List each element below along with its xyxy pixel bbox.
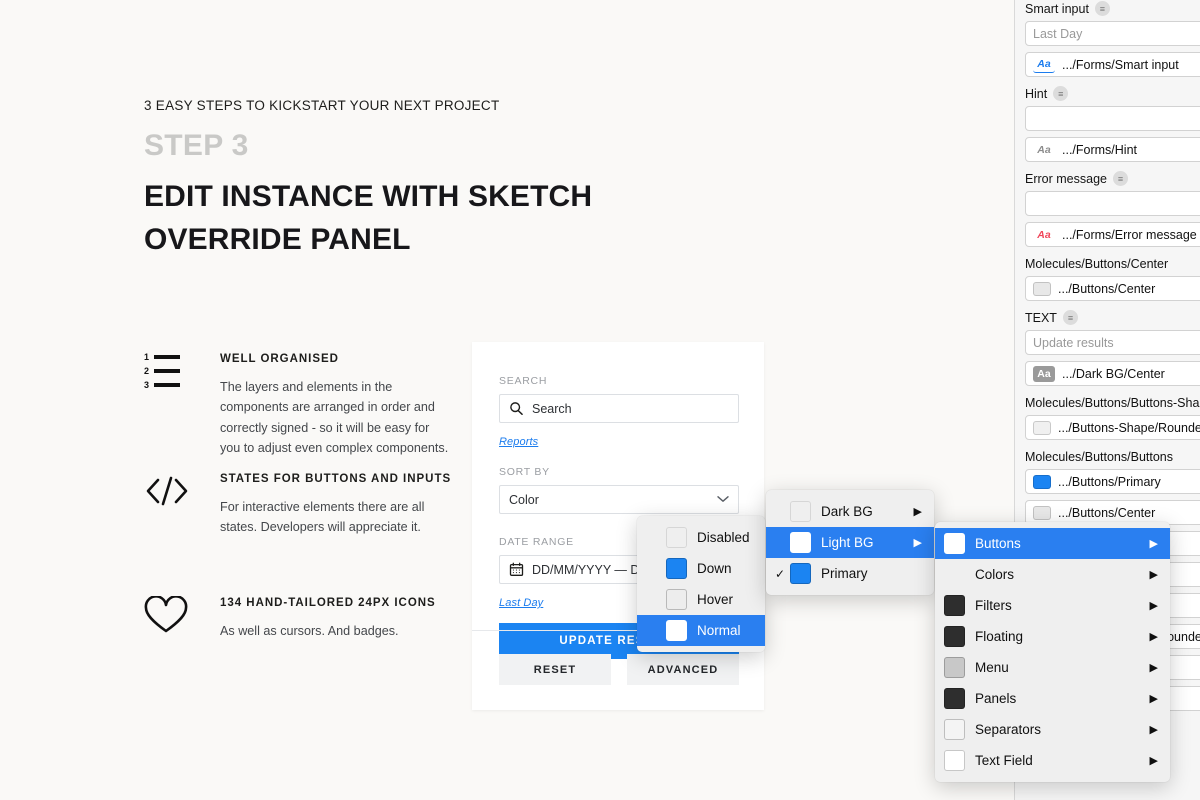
override-symbol-title: Molecules/Buttons/Buttons-Shape <box>1025 396 1200 410</box>
page-title: EDIT INSTANCE WITH SKETCH OVERRIDE PANEL <box>144 176 664 261</box>
override-symbol-row[interactable]: Aa.../Forms/Error message <box>1025 222 1200 247</box>
feature-body: For interactive elements there are all s… <box>220 497 452 538</box>
menu-item-buttons[interactable]: Buttons▶ <box>935 528 1170 559</box>
feature-item: STATES FOR BUTTONS AND INPUTS For intera… <box>144 472 464 538</box>
menu-item-colors[interactable]: Colors▶ <box>935 559 1170 590</box>
color-swatch <box>790 501 811 522</box>
submenu-arrow-icon: ▶ <box>1150 537 1158 550</box>
layers-icon[interactable]: ≡ <box>1113 171 1128 186</box>
menu-item-label: Colors <box>975 567 1130 582</box>
menu-item-label: Buttons <box>975 536 1130 551</box>
override-text-input[interactable] <box>1025 191 1200 216</box>
symbol-thumbnail <box>1033 421 1051 435</box>
checkmark-icon: ✓ <box>775 567 790 581</box>
menu-item-primary[interactable]: ✓Primary <box>766 558 934 589</box>
submenu-arrow-icon: ▶ <box>1150 599 1158 612</box>
sort-by-select[interactable]: Color <box>499 485 739 514</box>
menu-item-hover[interactable]: Hover <box>637 584 765 615</box>
color-swatch <box>944 626 965 647</box>
sort-by-label: SORT BY <box>499 466 739 478</box>
override-symbol-value: .../Buttons/Primary <box>1058 475 1161 489</box>
override-group-label: Hint≡ <box>1025 86 1200 101</box>
text-style-icon: Aa <box>1033 227 1055 243</box>
menu-item-label: Normal <box>697 623 753 638</box>
menu-item-label: Filters <box>975 598 1130 613</box>
menu-item-light-bg[interactable]: Light BG▶ <box>766 527 934 558</box>
screenshot-root: 3 EASY STEPS TO KICKSTART YOUR NEXT PROJ… <box>0 0 1200 800</box>
color-swatch <box>666 527 687 548</box>
chevron-down-icon <box>717 494 729 506</box>
text-style-icon: Aa <box>1033 142 1055 158</box>
submenu-arrow-icon: ▶ <box>1150 630 1158 643</box>
override-group-label-text: Error message <box>1025 172 1107 186</box>
components-menu: Buttons▶Colors▶Filters▶Floating▶Menu▶Pan… <box>935 522 1170 782</box>
override-group-label-text: Hint <box>1025 87 1047 101</box>
feature-item: 134 HAND-TAILORED 24PX ICONS As well as … <box>144 596 464 641</box>
search-label: SEARCH <box>499 375 739 387</box>
code-brackets-icon <box>144 472 196 518</box>
override-symbol-row[interactable]: .../Buttons-Shape/Rounded <box>1025 415 1200 440</box>
menu-item-panels[interactable]: Panels▶ <box>935 683 1170 714</box>
override-symbol-row[interactable]: .../Buttons/Primary <box>1025 469 1200 494</box>
color-swatch <box>944 750 965 771</box>
headline-line-2: OVERRIDE PANEL <box>144 219 664 262</box>
override-group-label: Error message≡ <box>1025 171 1200 186</box>
symbol-thumbnail <box>1033 475 1051 489</box>
color-swatch <box>944 657 965 678</box>
menu-item-menu[interactable]: Menu▶ <box>935 652 1170 683</box>
color-swatch <box>790 563 811 584</box>
override-text-input[interactable]: Last Day <box>1025 21 1200 46</box>
text-style-icon: Aa <box>1033 57 1055 73</box>
override-group-label-text: TEXT <box>1025 311 1057 325</box>
numbered-list-icon: 1 2 3 <box>144 352 196 398</box>
eyebrow-text: 3 EASY STEPS TO KICKSTART YOUR NEXT PROJ… <box>144 98 499 113</box>
heart-icon <box>144 596 196 642</box>
override-text-input-value: Last Day <box>1033 27 1082 41</box>
menu-item-label: Panels <box>975 691 1130 706</box>
calendar-icon <box>509 562 524 577</box>
menu-item-label: Primary <box>821 566 922 581</box>
layers-icon[interactable]: ≡ <box>1053 86 1068 101</box>
feature-title: 134 HAND-TAILORED 24PX ICONS <box>220 596 464 609</box>
color-swatch <box>944 688 965 709</box>
states-menu: DisabledDownHoverNormal <box>637 516 765 652</box>
symbol-thumbnail <box>1033 506 1051 520</box>
text-style-icon: Aa <box>1033 366 1055 382</box>
submenu-arrow-icon: ▶ <box>1150 754 1158 767</box>
menu-item-label: Text Field <box>975 753 1130 768</box>
color-swatch <box>666 589 687 610</box>
override-symbol-value: .../Forms/Hint <box>1062 143 1137 157</box>
menu-item-separators[interactable]: Separators▶ <box>935 714 1170 745</box>
layers-icon[interactable]: ≡ <box>1095 1 1110 16</box>
color-swatch <box>790 532 811 553</box>
symbol-thumbnail <box>1033 282 1051 296</box>
submenu-arrow-icon: ▶ <box>1150 568 1158 581</box>
menu-item-label: Disabled <box>697 530 753 545</box>
override-symbol-value: .../Buttons/Center <box>1058 282 1155 296</box>
menu-item-label: Separators <box>975 722 1130 737</box>
color-swatch <box>944 533 965 554</box>
override-group-label-text: Smart input <box>1025 2 1089 16</box>
feature-title: STATES FOR BUTTONS AND INPUTS <box>220 472 464 485</box>
override-symbol-row[interactable]: .../Buttons/Center <box>1025 276 1200 301</box>
headline-line-1: EDIT INSTANCE WITH SKETCH <box>144 176 664 219</box>
override-text-input-value: Update results <box>1033 336 1114 350</box>
feature-item: 1 2 3 WELL ORGANISED The layers and elem… <box>144 352 464 459</box>
sort-by-value: Color <box>509 493 539 507</box>
layers-icon[interactable]: ≡ <box>1063 310 1078 325</box>
override-symbol-value: .../Buttons/Center <box>1058 506 1155 520</box>
submenu-arrow-icon: ▶ <box>1150 692 1158 705</box>
override-symbol-value: .../Buttons-Shape/Rounded <box>1058 421 1200 435</box>
override-symbol-row[interactable]: Aa.../Dark BG/Center <box>1025 361 1200 386</box>
reset-button[interactable]: RESET <box>499 654 611 685</box>
last-day-link[interactable]: Last Day <box>499 597 543 609</box>
override-group-label: TEXT≡ <box>1025 310 1200 325</box>
color-swatch <box>666 558 687 579</box>
feature-title: WELL ORGANISED <box>220 352 464 365</box>
override-symbol-title: Molecules/Buttons/Center <box>1025 257 1200 271</box>
search-input-value: Search <box>532 402 572 416</box>
color-swatch <box>944 719 965 740</box>
menu-item-label: Floating <box>975 629 1130 644</box>
feature-body: The layers and elements in the component… <box>220 377 452 459</box>
submenu-arrow-icon: ▶ <box>914 505 922 518</box>
override-symbol-row[interactable]: Aa.../Forms/Smart input <box>1025 52 1200 77</box>
override-text-input[interactable]: Update results <box>1025 330 1200 355</box>
submenu-arrow-icon: ▶ <box>914 536 922 549</box>
menu-item-dark-bg[interactable]: Dark BG▶ <box>766 496 934 527</box>
color-swatch <box>944 595 965 616</box>
menu-item-floating[interactable]: Floating▶ <box>935 621 1170 652</box>
feature-body: As well as cursors. And badges. <box>220 621 452 641</box>
override-group-label: Smart input≡ <box>1025 1 1200 16</box>
background-menu: Dark BG▶Light BG▶✓Primary <box>766 490 934 595</box>
override-symbol-value: .../Forms/Error message <box>1062 228 1197 242</box>
advanced-button[interactable]: ADVANCED <box>627 654 739 685</box>
menu-item-down[interactable]: Down <box>637 553 765 584</box>
menu-item-label: Menu <box>975 660 1130 675</box>
step-label: STEP 3 <box>144 129 249 163</box>
search-icon <box>509 401 524 416</box>
override-symbol-value: .../Dark BG/Center <box>1062 367 1165 381</box>
menu-item-disabled[interactable]: Disabled <box>637 522 765 553</box>
reports-link[interactable]: Reports <box>499 436 538 448</box>
menu-item-filters[interactable]: Filters▶ <box>935 590 1170 621</box>
submenu-arrow-icon: ▶ <box>1150 723 1158 736</box>
search-input[interactable]: Search <box>499 394 739 423</box>
menu-item-normal[interactable]: Normal <box>637 615 765 646</box>
override-symbol-value: .../Forms/Smart input <box>1062 58 1179 72</box>
color-swatch <box>666 620 687 641</box>
menu-item-label: Hover <box>697 592 753 607</box>
menu-item-label: Light BG <box>821 535 894 550</box>
submenu-arrow-icon: ▶ <box>1150 661 1158 674</box>
override-text-input[interactable] <box>1025 106 1200 131</box>
menu-item-text-field[interactable]: Text Field▶ <box>935 745 1170 776</box>
menu-item-label: Dark BG <box>821 504 894 519</box>
override-symbol-title: Molecules/Buttons/Buttons <box>1025 450 1200 464</box>
override-symbol-row[interactable]: Aa.../Forms/Hint <box>1025 137 1200 162</box>
menu-item-label: Down <box>697 561 753 576</box>
